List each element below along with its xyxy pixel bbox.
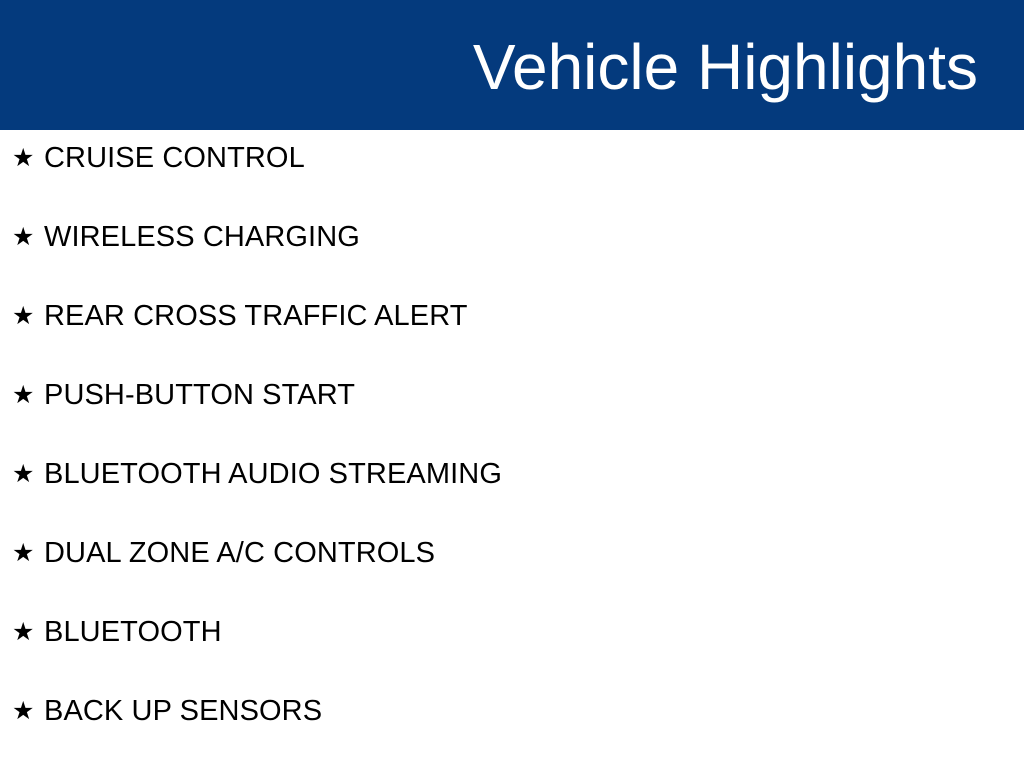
star-icon: ★ xyxy=(12,303,44,328)
star-icon: ★ xyxy=(12,145,44,170)
page-title: Vehicle Highlights xyxy=(473,35,978,99)
list-item-label: PUSH-BUTTON START xyxy=(44,381,355,410)
star-icon: ★ xyxy=(12,224,44,249)
list-item: ★ PUSH-BUTTON START xyxy=(0,381,1024,460)
star-icon: ★ xyxy=(12,619,44,644)
list-item-label: DUAL ZONE A/C CONTROLS xyxy=(44,539,435,568)
vehicle-highlights-slide: Vehicle Highlights ★ CRUISE CONTROL ★ WI… xyxy=(0,0,1024,768)
list-item: ★ BACK UP SENSORS xyxy=(0,697,1024,776)
list-item: ★ BLUETOOTH xyxy=(0,618,1024,697)
list-item: ★ WIRELESS CHARGING xyxy=(0,223,1024,302)
list-item-label: WIRELESS CHARGING xyxy=(44,223,360,252)
list-item: ★ BLUETOOTH AUDIO STREAMING xyxy=(0,460,1024,539)
list-item-label: CRUISE CONTROL xyxy=(44,144,305,173)
star-icon: ★ xyxy=(12,698,44,723)
list-item-label: BLUETOOTH AUDIO STREAMING xyxy=(44,460,502,489)
vehicle-highlights-list: ★ CRUISE CONTROL ★ WIRELESS CHARGING ★ R… xyxy=(0,130,1024,776)
star-icon: ★ xyxy=(12,461,44,486)
list-item-label: BLUETOOTH xyxy=(44,618,222,647)
star-icon: ★ xyxy=(12,540,44,565)
header-banner: Vehicle Highlights xyxy=(0,0,1024,130)
list-item: ★ DUAL ZONE A/C CONTROLS xyxy=(0,539,1024,618)
list-item-label: BACK UP SENSORS xyxy=(44,697,322,726)
list-item-label: REAR CROSS TRAFFIC ALERT xyxy=(44,302,468,331)
list-item: ★ REAR CROSS TRAFFIC ALERT xyxy=(0,302,1024,381)
star-icon: ★ xyxy=(12,382,44,407)
list-item: ★ CRUISE CONTROL xyxy=(0,144,1024,223)
